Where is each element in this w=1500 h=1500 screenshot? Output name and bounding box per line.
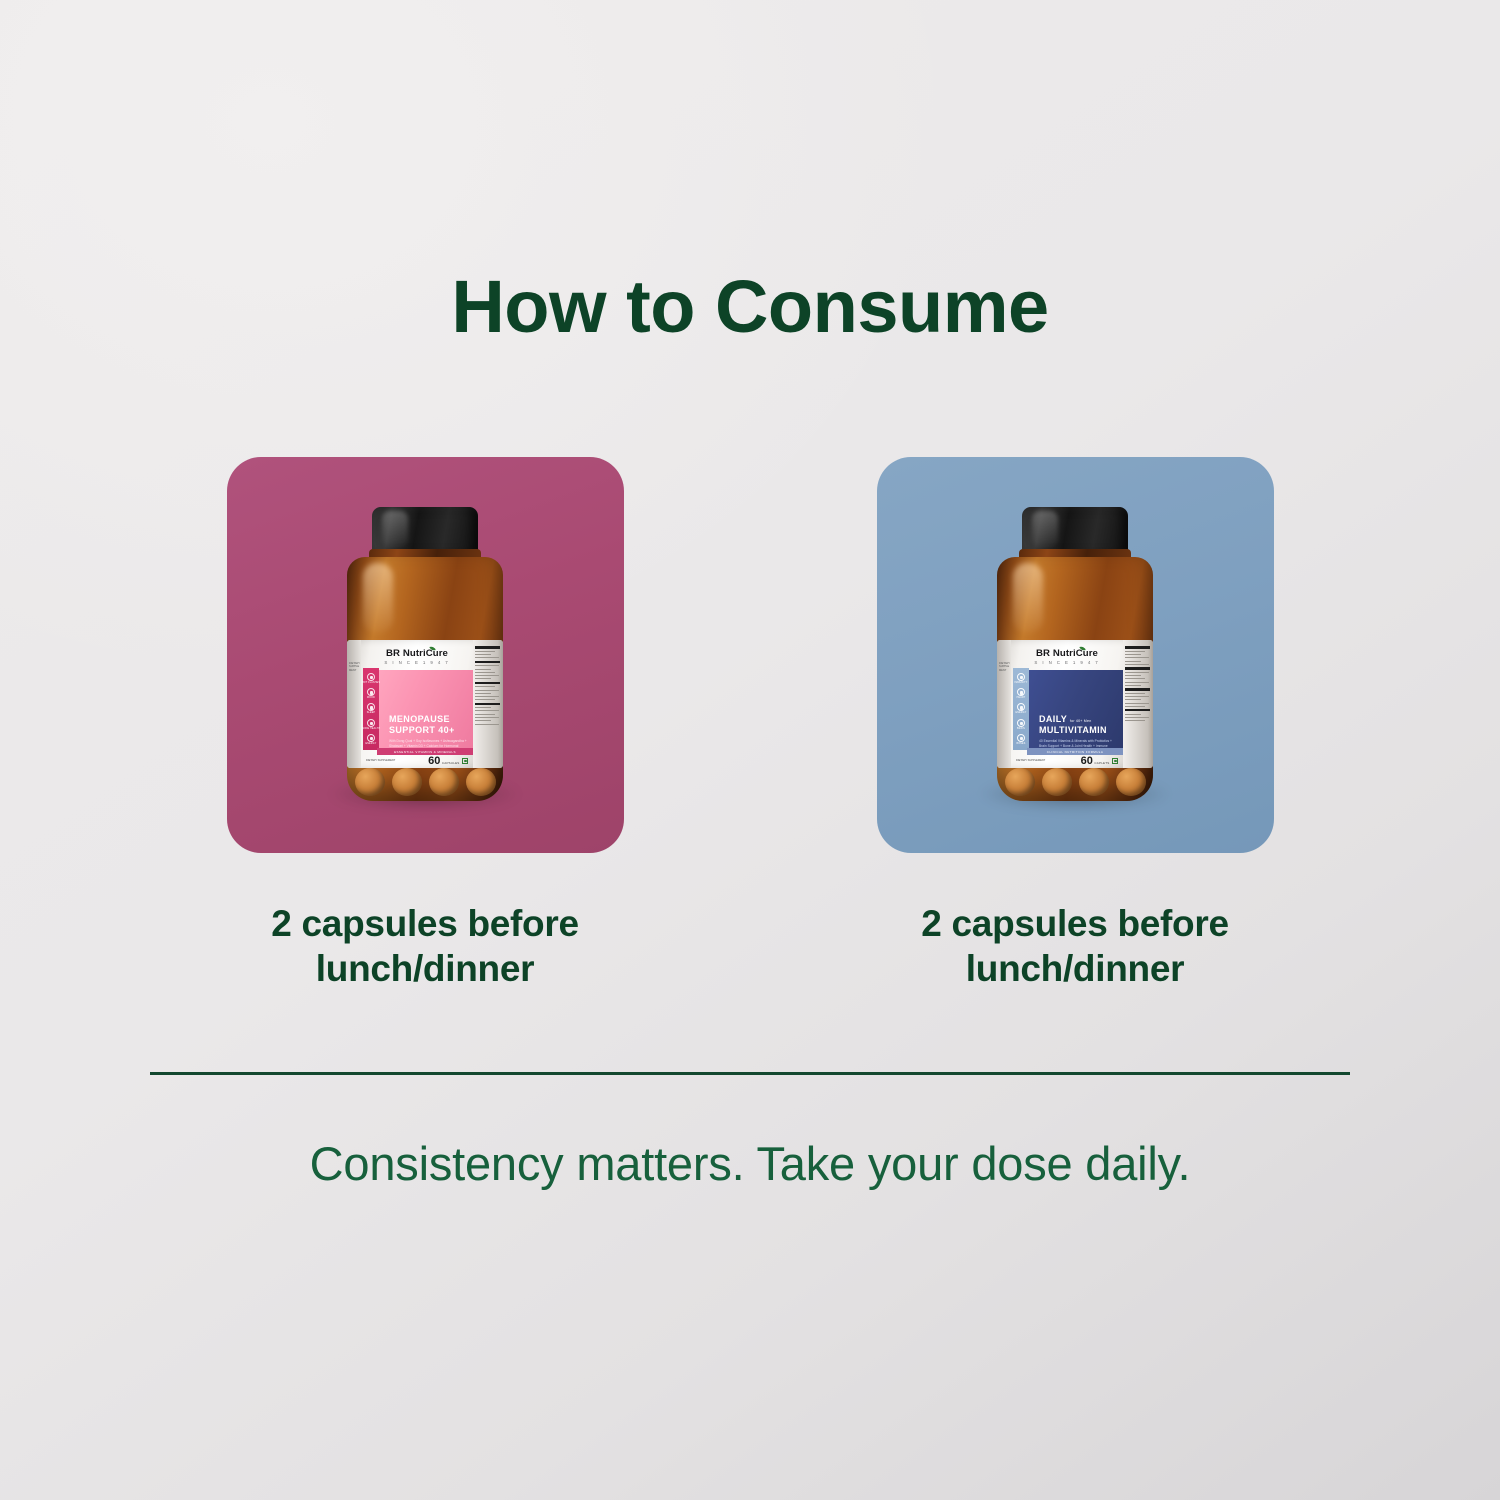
benefit-icon-sleep [367, 703, 375, 711]
label-bottom-row: DIETARY SUPPLEMENT 60 CAPLETS [1013, 755, 1121, 767]
dosage-caption-daily-multivitamin: 2 capsules before lunch/dinner [840, 901, 1310, 991]
bottle-highlight [1013, 563, 1043, 633]
bottle-label-menopause-support: DIETARY SUPPLEMENT [347, 640, 503, 768]
product-title-line1: DAILY for 40+ Men [1039, 714, 1117, 724]
benefit-icon-strip: IMMUNITY HEART ENERGY BRAIN BONES [1013, 668, 1029, 750]
product-title-block: DAILY for 40+ Men MULTIVITAMIN 40 Essent… [1039, 714, 1117, 753]
nutrition-facts-panel [1123, 640, 1153, 768]
benefit-icon-heart [1017, 688, 1025, 696]
label-side-text: DIETARY SUPPLEMENT [999, 662, 1010, 672]
benefit-icon-bones [1017, 734, 1025, 742]
product-cards-row: DIETARY SUPPLEMENT [0, 457, 1500, 991]
benefit-label-1: HEART [1017, 697, 1026, 699]
label-banner: CLINICAL NUTRITION FORMULA [1027, 748, 1123, 755]
brand-since: S I N C E 1 9 4 7 [1013, 660, 1121, 665]
benefit-label-3: BRAIN [1017, 728, 1025, 730]
capsule-count: 60 [428, 756, 440, 767]
nutrition-facts-panel [473, 640, 503, 768]
benefit-label-3: BONE HEALTH [362, 728, 380, 730]
bottle-cap-icon [372, 507, 478, 555]
label-side-text: DIETARY SUPPLEMENT [349, 662, 360, 672]
product-title-line1-text: DAILY [1039, 714, 1067, 724]
page-title: How to Consume [0, 268, 1500, 346]
benefit-icon-bone-health [367, 719, 375, 727]
label-left-wrap: DIETARY SUPPLEMENT [347, 640, 361, 768]
benefit-icon-energy [367, 734, 375, 742]
capsule-count-block: 60 CAPSULES [428, 756, 468, 767]
capsule-count-unit: CAPLETS [1094, 761, 1109, 765]
label-front-panel: IMMUNITY HEART ENERGY BRAIN BONES DAILY [1027, 670, 1123, 748]
dietary-supplement-text: DIETARY SUPPLEMENT [1016, 759, 1045, 762]
product-column-menopause-support: DIETARY SUPPLEMENT [227, 457, 624, 991]
benefit-label-2: SLEEP [367, 712, 375, 714]
dosage-caption-menopause-support: 2 capsules before lunch/dinner [190, 901, 660, 991]
product-title-line2: SUPPORT 40+ [389, 725, 467, 735]
bottle-daily-multivitamin: DIETARY SUPPLEMENT [991, 505, 1159, 805]
benefit-icon-brain [1017, 719, 1025, 727]
capsule-count-block: 60 CAPLETS [1081, 756, 1118, 767]
brand-name-part2: NutriCure [403, 648, 448, 659]
bottle-highlight [363, 563, 393, 633]
brand-name-part1: BR [386, 648, 400, 659]
brand-lockup: BR NutriCure S I N C E 1 9 4 7 [363, 648, 471, 665]
label-banner: ESSENTIAL VITAMINS & MINERALS [377, 748, 473, 755]
label-bottom-row: DIETARY SUPPLEMENT 60 CAPSULES [363, 755, 471, 767]
brand-name-part2: NutriCure [1053, 648, 1098, 659]
benefit-label-0: IMMUNITY [1015, 682, 1028, 684]
benefit-icon-energy [1017, 703, 1025, 711]
brand-name-part1: BR [1036, 648, 1050, 659]
bottle-menopause-support: DIETARY SUPPLEMENT [341, 505, 509, 805]
label-front-panel: HOT FLASHES MOOD SLEEP BONE HEALTH ENERG… [377, 670, 473, 748]
product-title-superscript: for 40+ Men [1070, 719, 1091, 723]
brand-name: BR NutriCure [1013, 648, 1121, 659]
benefit-label-4: BONES [1016, 743, 1025, 745]
benefit-label-0: HOT FLASHES [362, 682, 380, 684]
section-divider [150, 1072, 1350, 1075]
capsule-count: 60 [1081, 756, 1093, 767]
bottle-label-daily-multivitamin: DIETARY SUPPLEMENT [997, 640, 1153, 768]
vegetarian-mark-icon [1112, 758, 1118, 764]
benefit-icon-hot-flashes [367, 673, 375, 681]
how-to-consume-infographic: How to Consume [0, 0, 1500, 1500]
brand-name: BR NutriCure [363, 648, 471, 659]
brand-lockup: BR NutriCure S I N C E 1 9 4 7 [1013, 648, 1121, 665]
product-title-block: MENOPAUSE SUPPORT 40+ With Dong Quai + S… [389, 714, 467, 753]
product-card-menopause-support[interactable]: DIETARY SUPPLEMENT [227, 457, 624, 853]
bottle-cap-icon [1022, 507, 1128, 555]
product-title-line1: MENOPAUSE [389, 714, 467, 724]
benefit-label-2: ENERGY [1016, 712, 1027, 714]
capsule-count-unit: CAPSULES [442, 761, 460, 765]
product-title-line2: MULTIVITAMIN [1039, 725, 1117, 735]
product-column-daily-multivitamin: DIETARY SUPPLEMENT [877, 457, 1274, 991]
vegetarian-mark-icon [462, 758, 468, 764]
consistency-note: Consistency matters. Take your dose dail… [0, 1136, 1500, 1191]
benefit-icon-immunity [1017, 673, 1025, 681]
benefit-icon-mood [367, 688, 375, 696]
product-card-daily-multivitamin[interactable]: DIETARY SUPPLEMENT [877, 457, 1274, 853]
benefit-icon-strip: HOT FLASHES MOOD SLEEP BONE HEALTH ENERG… [363, 668, 379, 750]
benefit-label-1: MOOD [367, 697, 375, 699]
brand-since: S I N C E 1 9 4 7 [363, 660, 471, 665]
label-left-wrap: DIETARY SUPPLEMENT [997, 640, 1011, 768]
dietary-supplement-text: DIETARY SUPPLEMENT [366, 759, 395, 762]
benefit-label-4: ENERGY [366, 743, 377, 745]
